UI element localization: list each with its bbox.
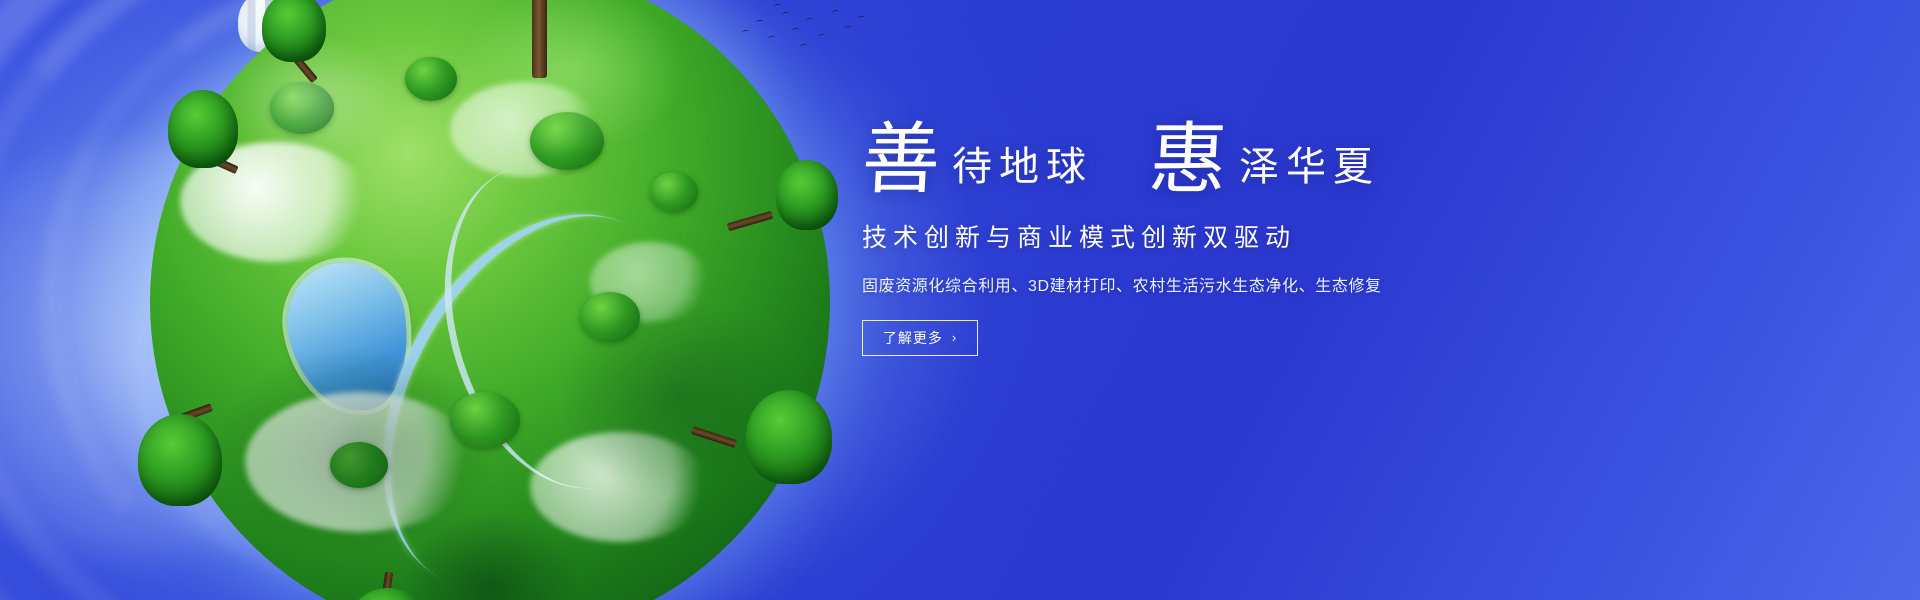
hero-subtitle: 技术创新与商业模式创新双驱动 (862, 218, 1642, 254)
river-shape (322, 162, 748, 600)
bird-icon (806, 18, 813, 23)
bird-icon (742, 30, 749, 35)
bird-icon (858, 16, 865, 21)
shrub (650, 172, 698, 212)
rim-tree (776, 160, 838, 230)
bird-icon (844, 26, 851, 31)
shrub (580, 292, 640, 342)
headline-small-text-1: 待地球 (952, 147, 1093, 196)
shrub (405, 57, 457, 101)
hero-headline: 善 待地球 惠 泽华夏 (862, 124, 1642, 196)
planet-cloud (450, 82, 600, 177)
chevron-right-icon: › (952, 331, 957, 344)
learn-more-button[interactable]: 了解更多 › (862, 320, 978, 356)
river-shape (418, 143, 702, 512)
bird-icon (800, 44, 807, 49)
tiny-planet-image (150, 0, 830, 600)
tree-icon (446, 0, 636, 40)
planet-cloud (590, 242, 710, 322)
planet-sphere (150, 0, 830, 600)
learn-more-label: 了解更多 (883, 328, 943, 348)
shrub (270, 82, 334, 134)
hero-description: 固废资源化综合利用、3D建材打印、农村生活污水生态净化、生态修复 (862, 272, 1642, 296)
headline-small-text-2: 泽华夏 (1239, 147, 1380, 196)
bird-icon (756, 20, 763, 25)
bird-icon (818, 34, 825, 39)
headline-group-two: 惠 泽华夏 (1149, 124, 1380, 196)
hero-content: 善 待地球 惠 泽华夏 技术创新与商业模式创新双驱动 固废资源化综合利用、3D建… (862, 124, 1642, 356)
shrub (330, 442, 388, 488)
rim-tree (262, 0, 326, 62)
rim-tree (138, 414, 222, 506)
bird-icon (782, 12, 789, 17)
bird-icon (768, 36, 775, 41)
shrub (530, 112, 604, 170)
planet-cloud (530, 432, 710, 542)
bird-icon (792, 28, 799, 33)
headline-group-one: 善 待地球 (862, 124, 1093, 196)
tree-trunk (532, 0, 547, 78)
bird-icon (774, 4, 781, 9)
hero-banner: 善 待地球 惠 泽华夏 技术创新与商业模式创新双驱动 固废资源化综合利用、3D建… (0, 0, 1920, 600)
bird-flock-icon (740, 0, 870, 60)
headline-big-char-1: 善 (860, 124, 942, 196)
rim-tree (168, 90, 238, 168)
planet-cloud (245, 392, 475, 532)
shrub (450, 392, 520, 448)
bird-icon (832, 10, 839, 15)
headline-big-char-2: 惠 (1147, 124, 1229, 196)
lake-shape (278, 253, 420, 421)
rim-tree (746, 390, 832, 484)
